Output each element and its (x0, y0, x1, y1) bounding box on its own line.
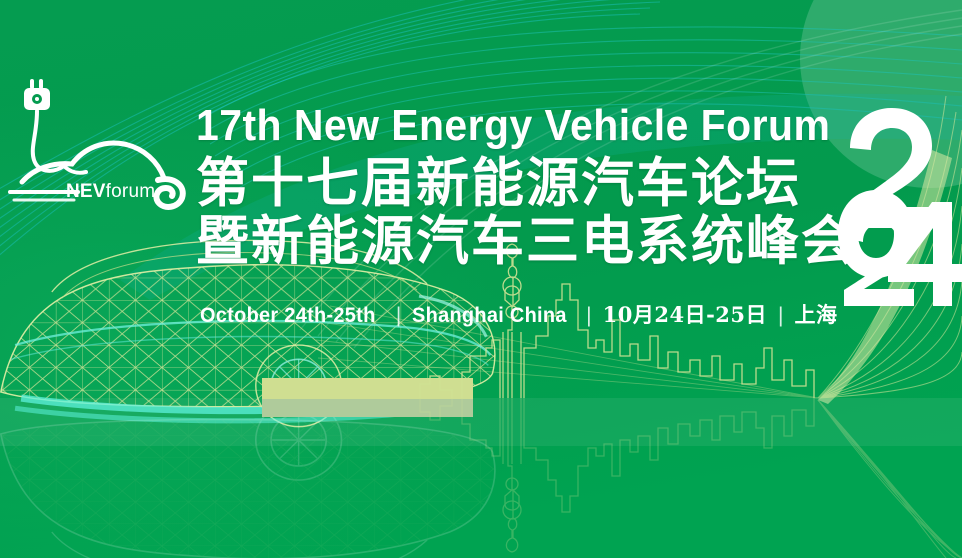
event-poster: NEVforum 17th New Energy Vehicle Forum 第… (0, 0, 962, 558)
logo-wordmark-nev: NEV (66, 181, 106, 202)
logo-wordmark: NEVforum (66, 181, 155, 203)
charging-plug-icon (24, 79, 50, 110)
headline-block: 17th New Energy Vehicle Forum 第十七届新能源汽车论… (196, 100, 836, 272)
date-english: October 24th-25th (200, 304, 376, 328)
city-chinese: 上海 (795, 299, 838, 329)
strip-divider-3: | (767, 304, 794, 328)
logo-wordmark-forum: forum (106, 181, 156, 202)
headline-chinese-primary: 第十七届新能源汽车论坛 (196, 154, 836, 214)
date-location-strip: October 24th-25th | Shanghai China | 10月… (200, 299, 838, 329)
headline-chinese-secondary: 暨新能源汽车三电系统峰会 (196, 212, 836, 272)
water-reflection-band (0, 398, 962, 446)
date-chinese: 10月24日-25日 (603, 299, 767, 329)
ground-platform-bar-reflection (262, 399, 473, 417)
strip-divider-1: | (385, 304, 412, 328)
city-english: Shanghai China (412, 304, 567, 328)
year-mark-2024 (836, 104, 962, 308)
headline-english: 17th New Energy Vehicle Forum (196, 100, 791, 152)
ground-platform-bar (262, 378, 473, 399)
strip-divider-2: | (575, 304, 602, 328)
